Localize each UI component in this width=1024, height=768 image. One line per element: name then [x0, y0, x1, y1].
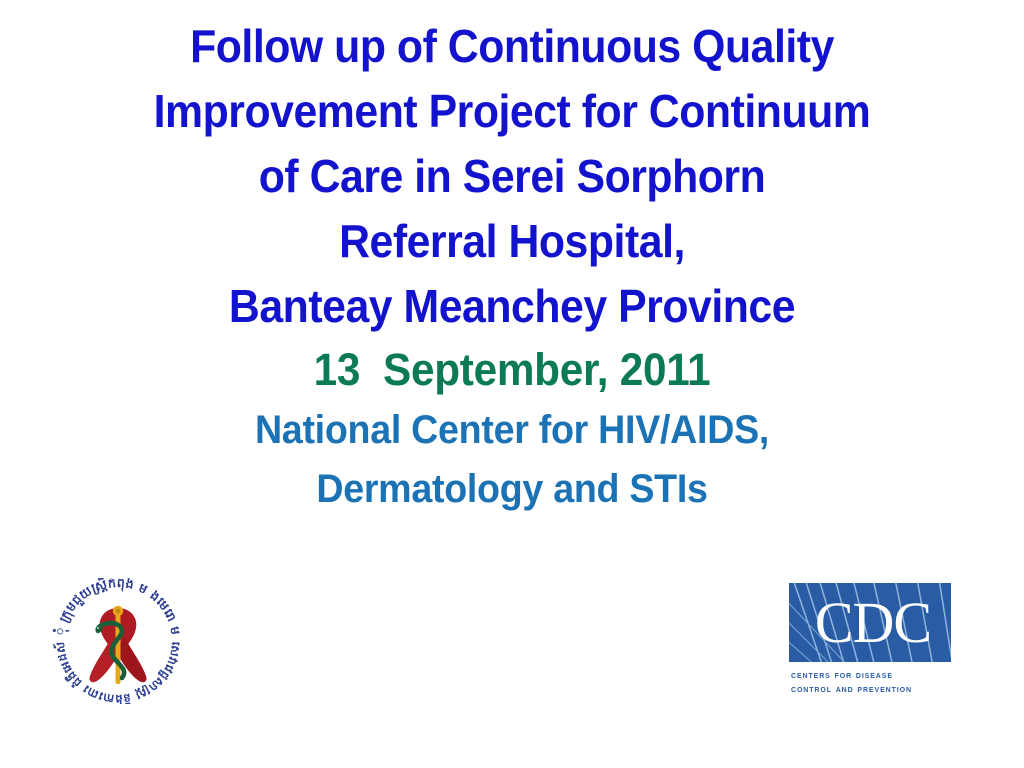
title-slide: Follow up of Continuous Quality Improvem… — [0, 0, 1024, 768]
nchads-logo: ុំ ក្រុមជួយស្រ្តីកំពុង ម ងមេរោ ម សេវាវេជ… — [48, 578, 188, 704]
organization-line-1: National Center for HIV/AIDS, — [31, 401, 994, 460]
date-text: 13 September, 2011 — [31, 339, 994, 401]
slide-text-block: Follow up of Continuous Quality Improvem… — [0, 14, 1024, 519]
cdc-logo: CDC ™ Centers for Disease Control and Pr… — [789, 583, 957, 693]
title-line-2: Improvement Project for Continuum — [36, 79, 988, 144]
cdc-wordmark: CDC — [789, 583, 951, 662]
title-line-1: Follow up of Continuous Quality — [36, 14, 988, 79]
cdc-logo-box: CDC ™ — [789, 583, 951, 662]
cdc-tagline-line-2: Control and Prevention — [791, 682, 957, 696]
serpent-eye-icon — [97, 627, 99, 629]
title-line-5: Banteay Meanchey Province — [36, 274, 988, 339]
organization-name: National Center for HIV/AIDS, Dermatolog… — [0, 401, 1024, 519]
presentation-date: 13 September, 2011 — [0, 339, 1024, 401]
cdc-tagline-line-1: Centers for Disease — [791, 668, 957, 682]
organization-line-2: Dermatology and STIs — [31, 460, 994, 519]
trademark-icon: ™ — [950, 654, 951, 661]
title-line-4: Referral Hospital, — [36, 209, 988, 274]
cdc-tagline: Centers for Disease Control and Preventi… — [789, 668, 957, 696]
title-line-3: of Care in Serei Sorphorn — [36, 144, 988, 209]
page-title: Follow up of Continuous Quality Improvem… — [0, 14, 1024, 339]
serpent-head-icon — [96, 626, 103, 633]
